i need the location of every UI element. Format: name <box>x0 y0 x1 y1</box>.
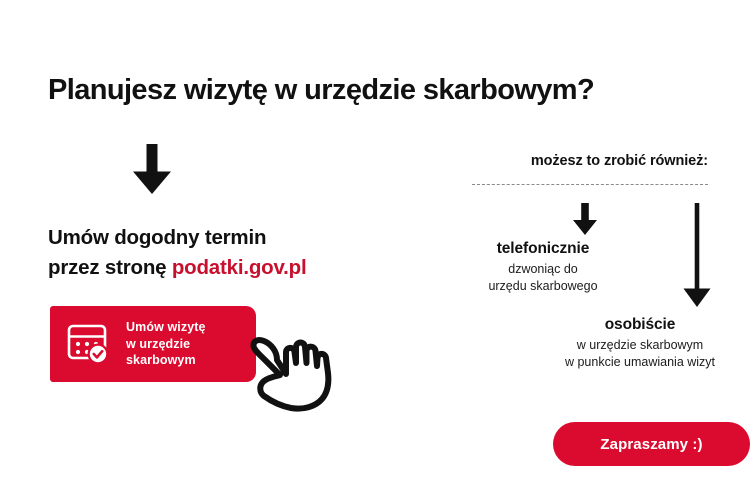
pointing-hand-cursor-icon <box>247 330 339 416</box>
option-osobiscie: osobiście w urzędzie skarbowym w punkcie… <box>536 316 744 371</box>
option-detail-line: urzędu skarbowego <box>443 278 643 295</box>
left-lead-text: Umów dogodny termin przez stronę podatki… <box>48 223 306 283</box>
option-detail-line: w urzędzie skarbowym <box>536 337 744 354</box>
invite-button[interactable]: Zapraszamy :) <box>553 422 750 466</box>
book-visit-button[interactable]: Umów wizytę w urzędzie skarbowym <box>50 306 256 382</box>
option-detail-line: w punkcie umawiania wizyt <box>536 354 744 371</box>
option-telefonicznie: telefonicznie dzwoniąc do urzędu skarbow… <box>443 240 643 295</box>
arrow-down-long-icon <box>680 203 714 307</box>
arrow-down-icon <box>128 144 176 194</box>
page-title: Planujesz wizytę w urzędzie skarbowym? <box>48 74 594 107</box>
left-lead-line1: Umów dogodny termin <box>48 223 306 253</box>
arrow-down-icon <box>570 203 600 235</box>
calendar-check-icon <box>66 321 112 367</box>
book-visit-button-content: Umów wizytę w urzędzie skarbowym <box>50 306 256 382</box>
left-lead-prefix: przez stronę <box>48 256 172 279</box>
dashed-divider <box>472 184 708 185</box>
option-title: osobiście <box>536 316 744 334</box>
book-visit-line3: skarbowym <box>126 352 206 369</box>
left-lead-line2: przez stronę podatki.gov.pl <box>48 253 306 283</box>
option-detail-line: dzwoniąc do <box>443 261 643 278</box>
podatki-domain-link[interactable]: podatki.gov.pl <box>172 256 307 279</box>
book-visit-button-label: Umów wizytę w urzędzie skarbowym <box>126 319 206 369</box>
infographic-canvas: Planujesz wizytę w urzędzie skarbowym? U… <box>0 0 750 500</box>
book-visit-line1: Umów wizytę <box>126 319 206 336</box>
option-title: telefonicznie <box>443 240 643 258</box>
book-visit-line2: w urzędzie <box>126 336 206 353</box>
right-column-title: możesz to zrobić również: <box>531 153 708 169</box>
